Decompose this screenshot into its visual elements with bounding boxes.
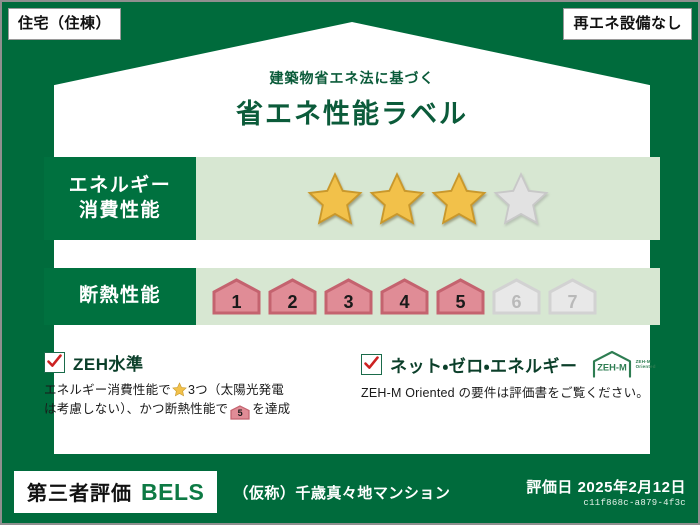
star-filled-icon	[431, 171, 487, 227]
net-zero-energy-block: ネット・ゼロ・エネルギー ZEH-M ZEH-M Oriented ZEH-M …	[349, 350, 660, 420]
zeh-m-logo-subtext: ZEH-M Oriented	[636, 359, 656, 369]
zeh-standard-block: ZEH水準 エネルギー消費性能で 3つ（太陽光発電 は考慮しない）、かつ断熱性能…	[44, 350, 349, 420]
insulation-grade-chip: 1	[210, 277, 263, 317]
label-title-block: 建築物省エネ法に基づく 省エネ性能ラベル	[2, 68, 700, 131]
inline-grade-chip-value: 5	[230, 405, 250, 421]
evaluation-date: 評価日 2025年2月12日	[526, 476, 686, 497]
zeh-standard-checkbox[interactable]	[44, 352, 65, 373]
insulation-grade-chip-value: 4	[399, 293, 409, 315]
net-zero-energy-checkbox[interactable]	[361, 354, 382, 375]
energy-star-rating	[196, 157, 660, 240]
zeh-m-logo: ZEH-M ZEH-M Oriented	[590, 350, 656, 378]
bels-badge-en: BELS	[141, 479, 204, 506]
star-filled-icon	[369, 171, 425, 227]
page-title: 省エネ性能ラベル	[2, 92, 700, 131]
building-type-tag: 住宅（住棟）	[8, 8, 121, 40]
insulation-grade-chip: 6	[490, 277, 543, 317]
insulation-grade-chip: 7	[546, 277, 599, 317]
energy-performance-label: エネルギー 消費性能	[44, 157, 196, 240]
zeh-m-sub-line-2: Oriented	[636, 364, 656, 369]
star-empty-icon	[493, 171, 549, 227]
insulation-grade-chip: 3	[322, 277, 375, 317]
bels-badge-jp: 第三者評価	[27, 477, 132, 506]
insulation-grade-chip-value: 7	[567, 293, 577, 315]
insulation-grade-chip-value: 5	[455, 293, 465, 315]
insulation-grade-chip-value: 3	[343, 293, 353, 315]
svg-text:ZEH-M: ZEH-M	[597, 363, 627, 373]
footer-bar: 第三者評価 BELS （仮称）千歳真々地マンション 評価日 2025年2月12日…	[2, 461, 700, 523]
evaluation-date-block: 評価日 2025年2月12日 c11f868c-a879-4f3c	[526, 476, 686, 508]
insulation-grade-chip-value: 6	[511, 293, 521, 315]
certificate-id: c11f868c-a879-4f3c	[526, 498, 686, 508]
zeh-desc-part-2: は考慮しない）、かつ断熱性能で	[44, 402, 228, 416]
zeh-desc-part-3: を達成	[252, 402, 290, 416]
renewable-equipment-tag: 再エネ設備なし	[563, 8, 692, 40]
certification-checks: ZEH水準 エネルギー消費性能で 3つ（太陽光発電 は考慮しない）、かつ断熱性能…	[44, 350, 660, 420]
energy-performance-row: エネルギー 消費性能	[44, 157, 660, 240]
zeh-standard-header: ZEH水準	[44, 350, 341, 375]
energy-label-line-1: エネルギー	[69, 174, 172, 199]
insulation-performance-label: 断熱性能	[44, 268, 196, 325]
zeh-desc-star-count: 3つ（太陽光発電	[188, 383, 284, 397]
insulation-grade-chip: 5	[434, 277, 487, 317]
insulation-performance-row: 断熱性能 1234567	[44, 268, 660, 325]
net-zero-energy-description: ZEH-M Oriented の要件は評価書をご覧ください。	[361, 384, 660, 403]
bels-badge: 第三者評価 BELS	[14, 471, 217, 513]
zeh-desc-part-1: エネルギー消費性能で	[44, 383, 171, 397]
insulation-grade-chip-value: 2	[287, 293, 297, 315]
insulation-grade-chip-value: 1	[231, 293, 241, 315]
title-subtitle: 建築物省エネ法に基づく	[2, 68, 700, 88]
zeh-standard-description: エネルギー消費性能で 3つ（太陽光発電 は考慮しない）、かつ断熱性能で 5 を達…	[44, 381, 341, 420]
zeh-standard-title: ZEH水準	[73, 350, 144, 375]
energy-label-line-2: 消費性能	[79, 199, 161, 224]
net-zero-energy-header: ネット・ゼロ・エネルギー ZEH-M ZEH-M Oriented	[361, 350, 660, 378]
energy-performance-label: 住宅（住棟） 再エネ設備なし 建築物省エネ法に基づく 省エネ性能ラベル エネルギ…	[0, 0, 700, 525]
property-name: （仮称）千歳真々地マンション	[233, 482, 450, 503]
insulation-grade-scale: 1234567	[196, 268, 660, 325]
net-zero-energy-title: ネット・ゼロ・エネルギー	[390, 352, 578, 377]
inline-star-icon	[172, 382, 187, 397]
insulation-grade-chip: 4	[378, 277, 431, 317]
inline-grade-chip: 5	[230, 405, 250, 420]
insulation-grade-chip: 2	[266, 277, 319, 317]
star-filled-icon	[307, 171, 363, 227]
